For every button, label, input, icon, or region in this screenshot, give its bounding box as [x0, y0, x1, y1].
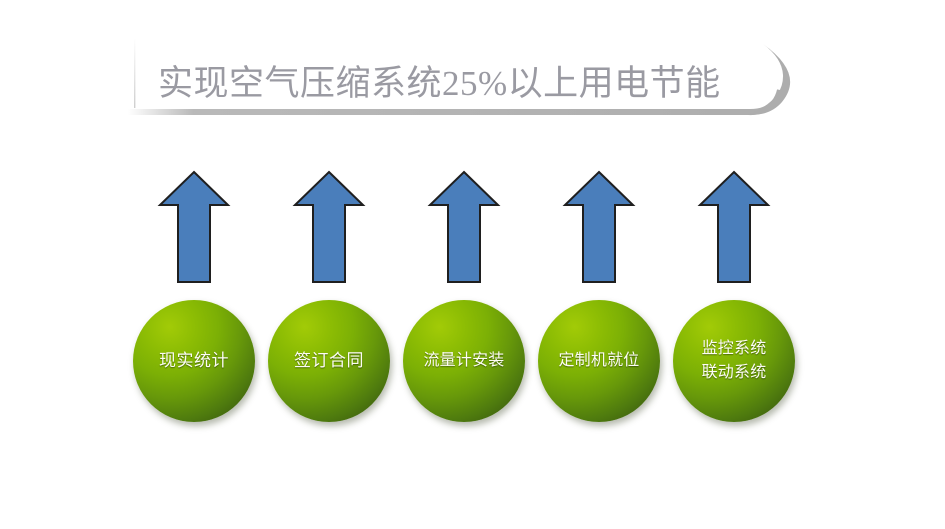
up-arrow-icon — [697, 168, 771, 286]
step-arrow-3 — [427, 168, 501, 286]
up-arrow-icon — [157, 168, 231, 286]
page-title: 实现空气压缩系统25%以上用电节能 — [158, 57, 758, 111]
step-circle-5[interactable]: 监控系统 联动系统 — [673, 300, 795, 422]
step-circle-2[interactable]: 签订合同 — [268, 300, 390, 422]
slide-canvas: 实现空气压缩系统25%以上用电节能 — [0, 0, 945, 529]
up-arrow-icon — [292, 168, 366, 286]
step-circle-1[interactable]: 现实统计 — [133, 300, 255, 422]
step-circle-4[interactable]: 定制机就位 — [538, 300, 660, 422]
step-arrow-5 — [697, 168, 771, 286]
step-circle-3[interactable]: 流量计安装 — [403, 300, 525, 422]
step-label-2: 签订合同 — [290, 350, 368, 372]
up-arrow-icon — [427, 168, 501, 286]
title-banner: 实现空气压缩系统25%以上用电节能 — [120, 28, 820, 138]
step-arrow-2 — [292, 168, 366, 286]
step-label-4: 定制机就位 — [554, 350, 643, 372]
step-arrow-4 — [562, 168, 636, 286]
up-arrow-icon — [562, 168, 636, 286]
step-label-5: 监控系统 联动系统 — [698, 337, 771, 385]
step-label-3: 流量计安装 — [419, 350, 508, 372]
arrows-row — [0, 168, 945, 286]
step-label-1: 现实统计 — [155, 350, 233, 372]
circles-row: 现实统计 签订合同 流量计安装 定制机就位 监控系统 联动系统 — [0, 300, 945, 424]
step-arrow-1 — [157, 168, 231, 286]
